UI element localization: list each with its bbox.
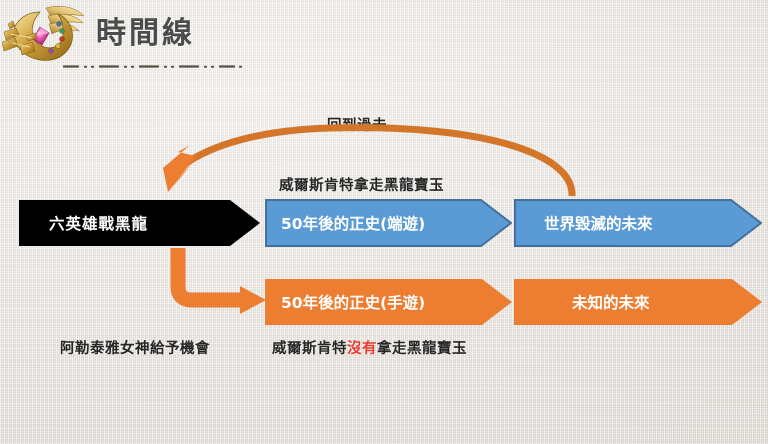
node-label: 世界毀滅的未來 <box>544 212 653 234</box>
node-label: 六英雄戰黑龍 <box>49 212 148 234</box>
node-label: 50年後的正史(手遊) <box>281 291 425 313</box>
node-unknown-future[interactable]: 未知的未來 <box>514 279 762 325</box>
node-official-history-50-years-mobile[interactable]: 50年後的正史(手遊) <box>265 279 512 325</box>
node-world-destruction-future[interactable]: 世界毀滅的未來 <box>514 199 762 247</box>
node-label: 50年後的正史(端遊) <box>281 212 425 234</box>
node-six-heroes-fight-black-dragon[interactable]: 六英雄戰黑龍 <box>19 200 260 246</box>
node-official-history-50-years-pc[interactable]: 50年後的正史(端遊) <box>265 199 512 247</box>
slide-canvas: 時間線 <box>0 0 768 444</box>
elbow-arrow-right-icon <box>178 248 266 314</box>
curved-arrow-left-icon <box>163 128 572 196</box>
node-label: 未知的未來 <box>572 291 650 313</box>
